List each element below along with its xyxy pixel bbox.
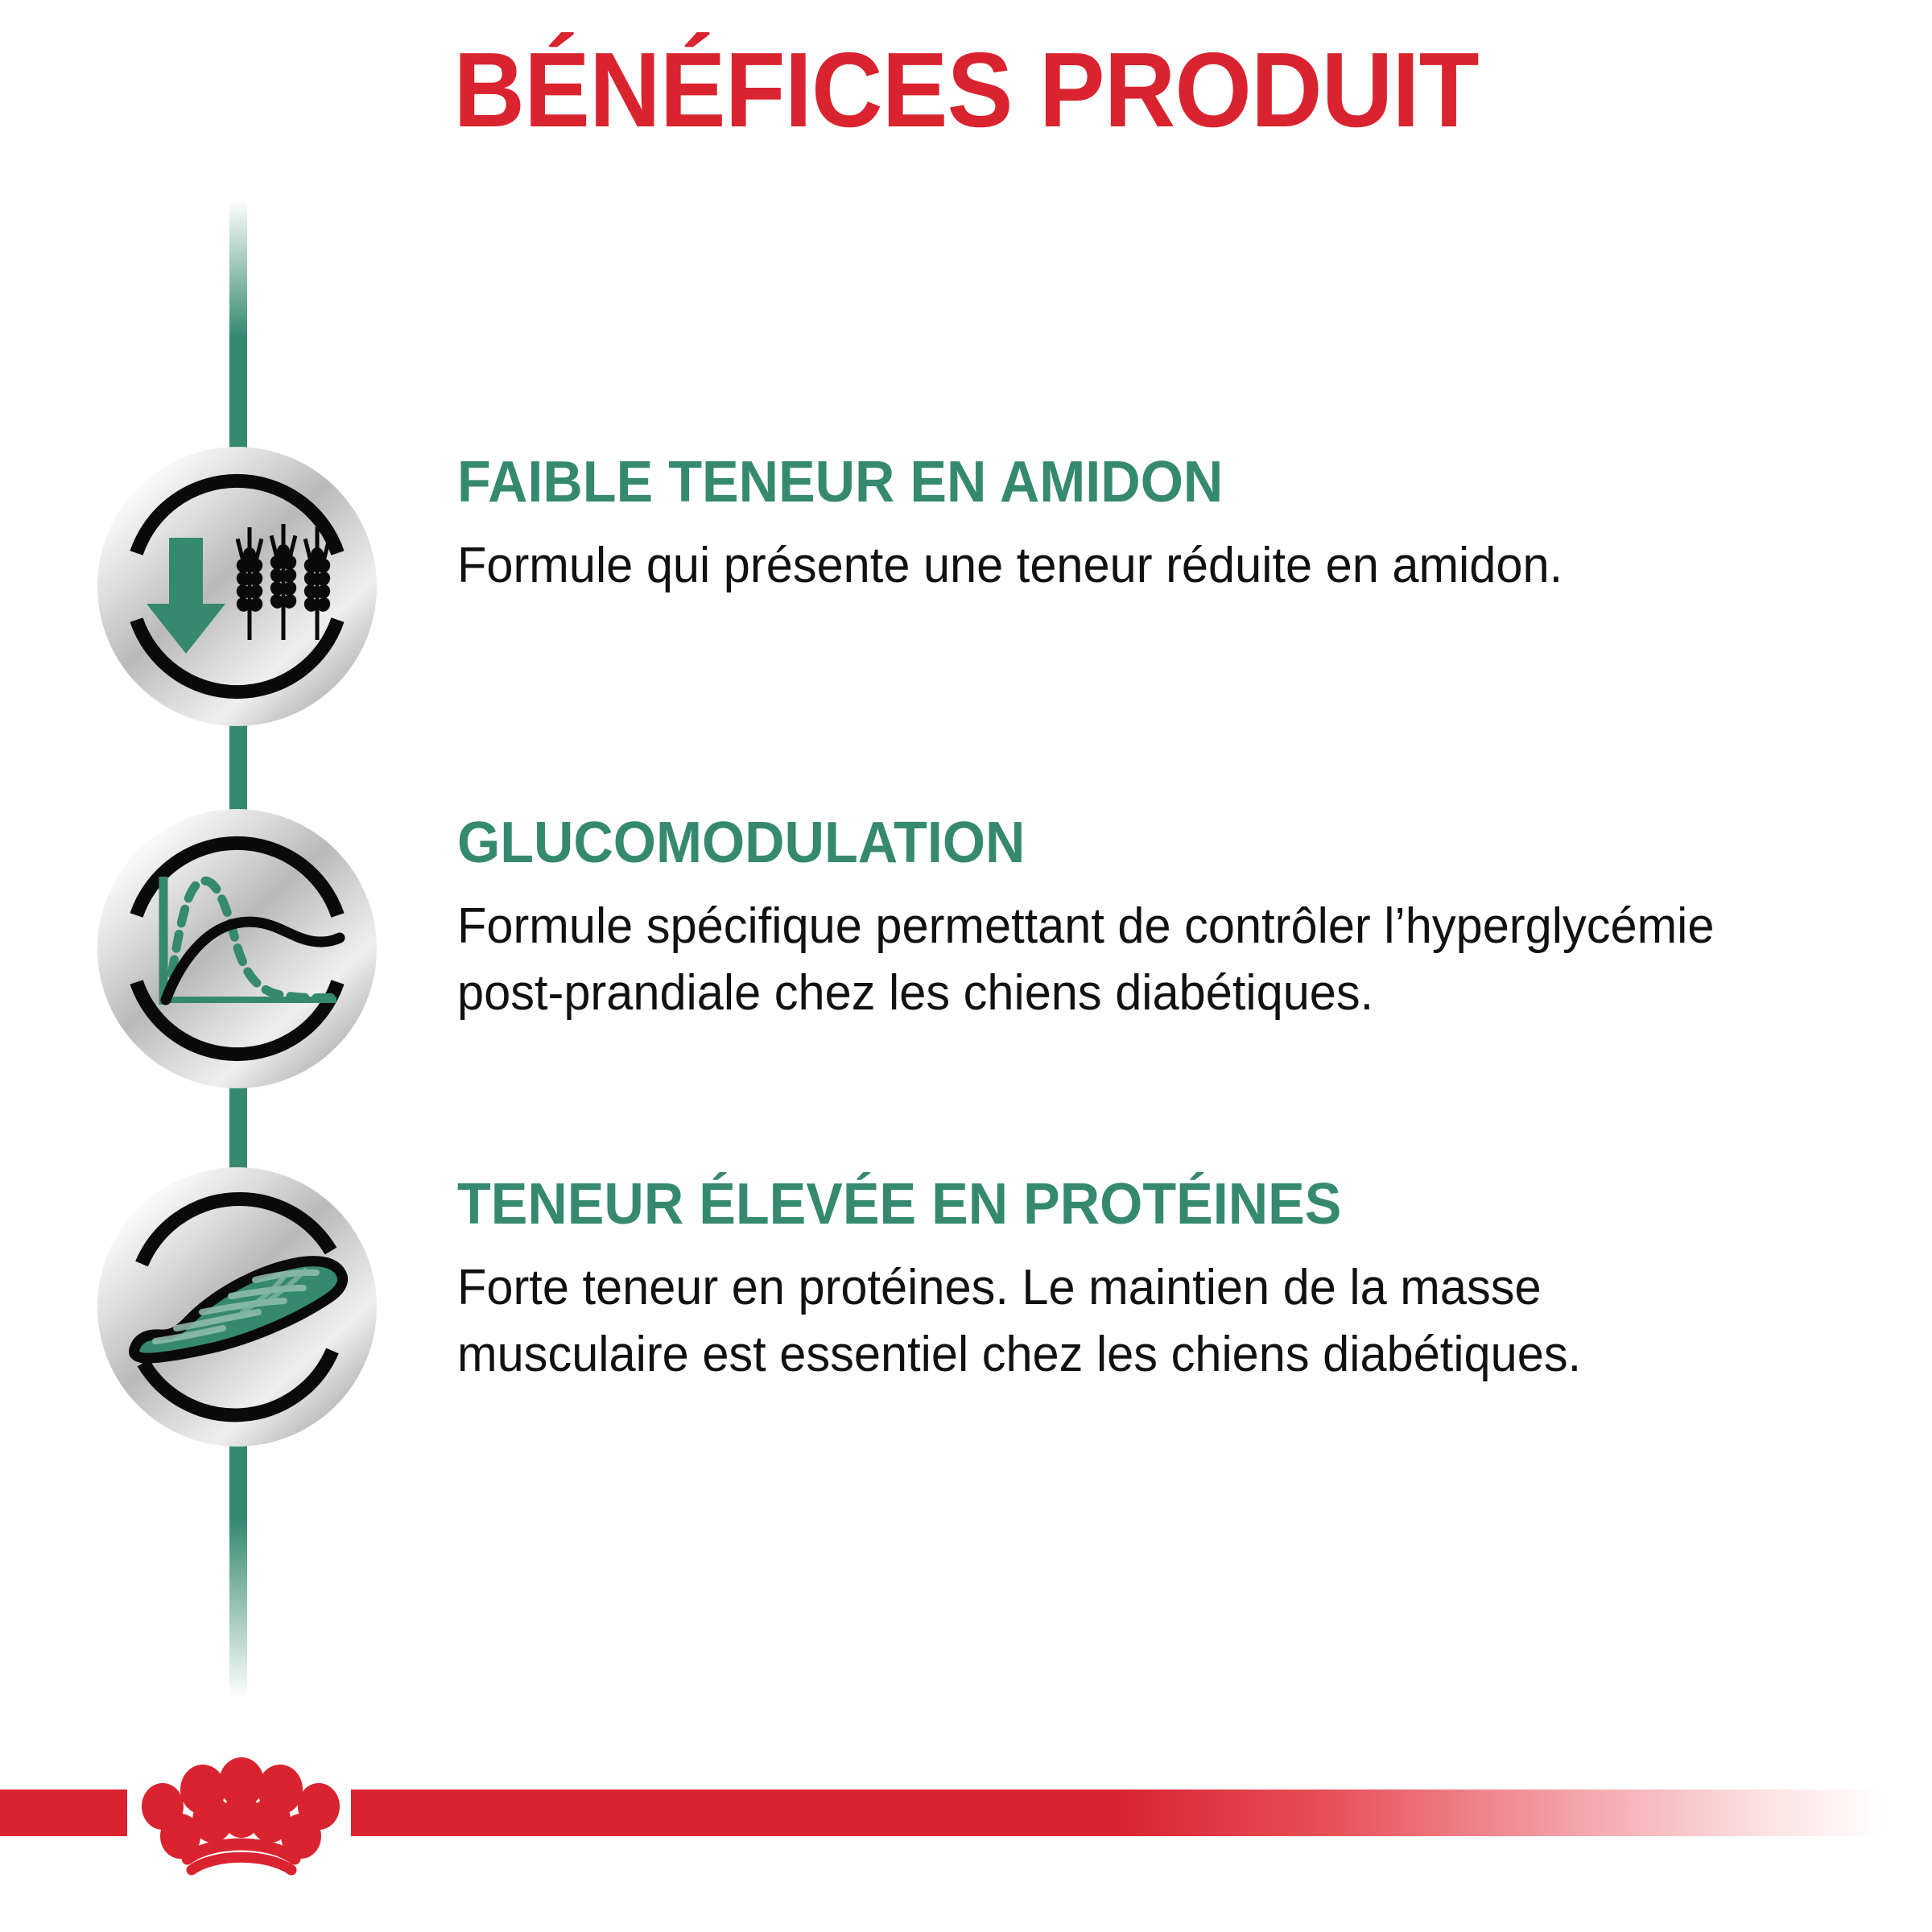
benefit-title: GLUCOMODULATION [457,814,1827,873]
benefit-description: Forte teneur en protéines. Le maintien d… [457,1255,1771,1388]
benefit-description: Formule spécifique permettant de contrôl… [457,894,1771,1026]
benefit-text-glucomodulation: GLUCOMODULATION Formule spécifique perme… [457,809,1898,1026]
benefit-title: TENEUR ÉLEVÉE EN PROTÉINES [457,1175,1827,1234]
footer-bar-left [0,1790,127,1836]
high-protein-muscle-icon [97,1167,377,1447]
low-starch-icon [97,447,377,726]
benefit-title: FAIBLE TENEUR EN AMIDON [457,453,1827,512]
benefits-list: FAIBLE TENEUR EN AMIDON Formule qui prés… [0,0,1932,1932]
royal-canin-crown-logo [129,1756,351,1876]
footer-bar-right [351,1790,1932,1836]
benefit-text-low-starch: FAIBLE TENEUR EN AMIDON Formule qui prés… [457,447,1898,600]
glucomodulation-curve-icon [97,809,377,1088]
footer [0,1751,1932,1932]
benefit-description: Formule qui présente une teneur réduite … [457,533,1771,599]
benefit-text-high-protein: TENEUR ÉLEVÉE EN PROTÉINES Forte teneur … [457,1167,1898,1388]
